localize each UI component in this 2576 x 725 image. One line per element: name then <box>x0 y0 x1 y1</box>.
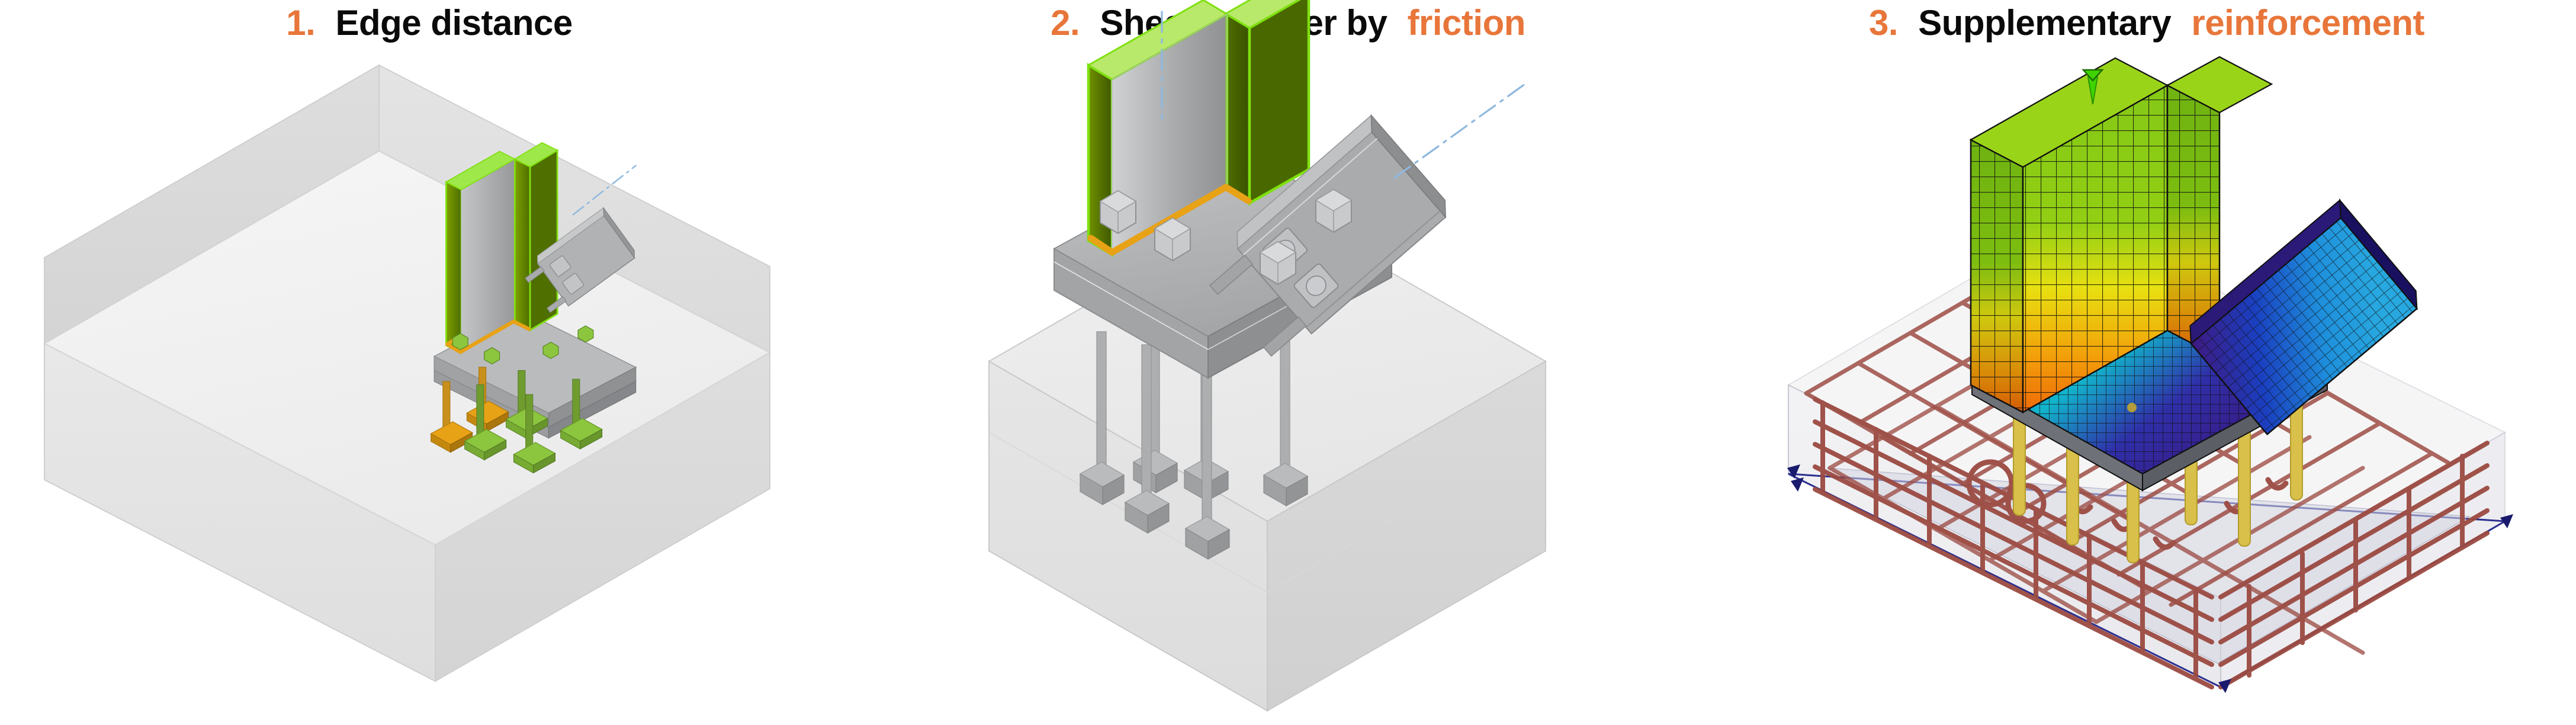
panel-2-viewport <box>859 53 1717 725</box>
panel-1-viewport <box>0 53 859 725</box>
panel-3-title: 3. Supplementary reinforcement <box>1717 4 2576 43</box>
panel-1-title: 1. Edge distance <box>0 4 859 43</box>
panel-2-scene <box>859 53 1717 725</box>
panel-3-title-main: Supplementary <box>1918 3 2171 43</box>
panel-3-viewport <box>1717 53 2576 725</box>
concrete-block <box>44 65 770 681</box>
panel-shear-transfer: 2. Shear transfer by friction <box>859 0 1717 725</box>
panel-1-index: 1. <box>286 3 315 43</box>
panel-edge-distance: 1. Edge distance <box>0 0 859 725</box>
panel-3-scene <box>1717 53 2576 725</box>
steel-column <box>446 143 557 353</box>
panel-1-scene <box>0 53 859 725</box>
panel-2-title-accent: friction <box>1408 3 1525 43</box>
panel-1-title-main: Edge distance <box>335 3 572 43</box>
panel-3-title-accent: reinforcement <box>2191 3 2424 43</box>
panel-supplementary-reinforcement: 3. Supplementary reinforcement <box>1717 0 2576 725</box>
panel-2-index: 2. <box>1051 3 1080 43</box>
panel-3-index: 3. <box>1869 3 1898 43</box>
